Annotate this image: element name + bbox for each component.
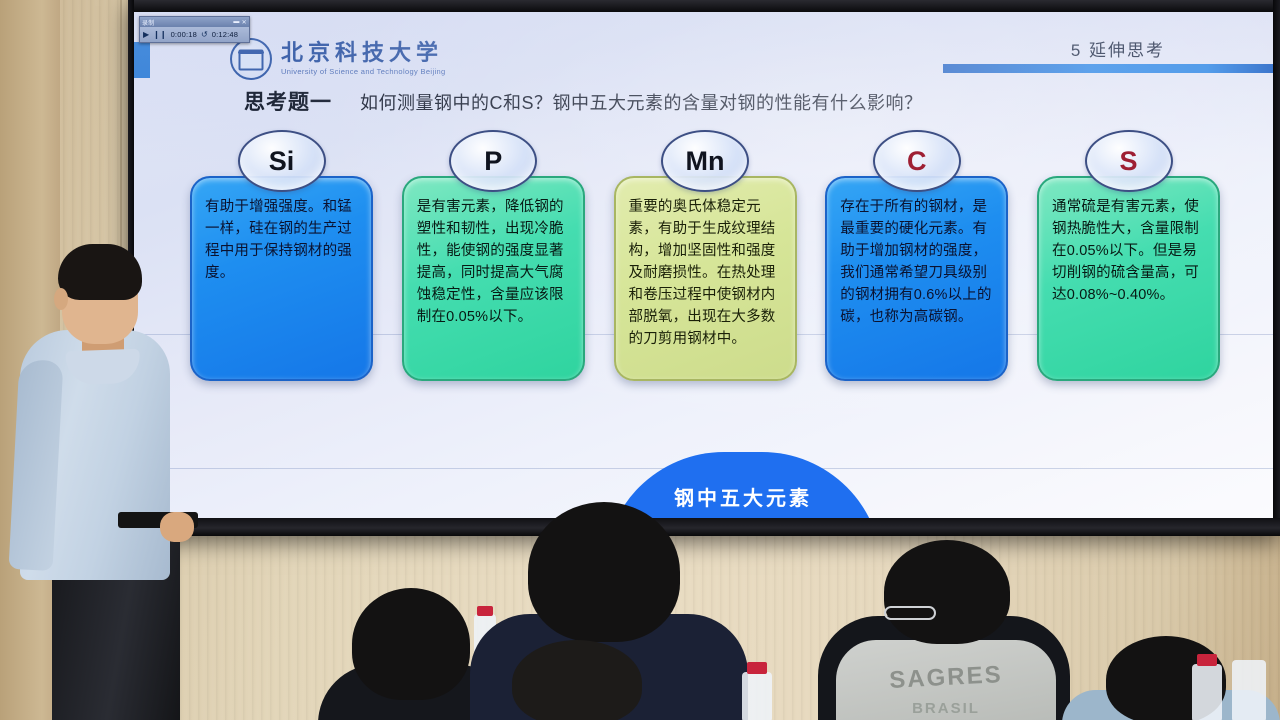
element-symbol-mn: Mn — [661, 130, 749, 192]
university-seal-icon — [230, 38, 272, 80]
elapsed-time: 0:00:18 — [171, 30, 197, 39]
section-accent-bar — [943, 64, 1273, 73]
screen-recorder-toolbar[interactable]: 录制 ▬ ✕ ▶ ❙❙ 0:00:18 ↺ 0:12:48 — [139, 16, 250, 43]
audience-member-head — [884, 540, 1010, 644]
element-column-s: S 通常硫是有害元素，使钢热脆性大，含量限制在0.05%以下。但是易切削钢的硫含… — [1037, 130, 1220, 381]
presentation-screen: 北京科技大学 University of Science and Technol… — [128, 0, 1280, 536]
bottom-banner: 钢中五大元素 — [604, 452, 882, 518]
lecture-room-scene: 北京科技大学 University of Science and Technol… — [0, 0, 1280, 720]
water-bottle-cap — [747, 662, 767, 674]
play-icon[interactable]: ▶ — [143, 31, 149, 39]
element-card-p: 是有害元素，降低钢的塑性和韧性，出现冷脆性，能使钢的强度显著提高，同时提高大气腐… — [402, 176, 585, 381]
slide-left-accent-tab — [134, 42, 150, 78]
presenter-hand — [160, 512, 194, 542]
element-symbol-p: P — [449, 130, 537, 192]
glasses-icon — [884, 606, 936, 620]
audience-member-head — [528, 502, 680, 642]
university-logo: 北京科技大学 University of Science and Technol… — [230, 38, 446, 80]
university-name-en: University of Science and Technology Bei… — [281, 67, 446, 76]
undo-icon[interactable]: ↺ — [201, 31, 208, 39]
slide-content: 北京科技大学 University of Science and Technol… — [134, 12, 1273, 518]
element-symbol-s: S — [1085, 130, 1173, 192]
recorder-controls[interactable]: ▶ ❙❙ 0:00:18 ↺ 0:12:48 — [140, 27, 249, 42]
element-card-si: 有助于增强强度。和锰一样，硅在钢的生产过程中用于保持钢材的强度。 — [190, 176, 373, 381]
screen-bezel-right — [1273, 0, 1280, 536]
water-bottle — [1232, 660, 1266, 720]
minimize-icon[interactable]: ▬ — [233, 19, 239, 25]
hoodie-text-secondary: BRASIL — [856, 700, 1036, 717]
element-card-mn: 重要的奥氏体稳定元素，有助于生成纹理结构，增加坚固性和强度及耐磨损性。在热处理和… — [614, 176, 797, 381]
element-symbol-c: C — [873, 130, 961, 192]
audience-member-head — [352, 588, 470, 700]
university-name-cn: 北京科技大学 — [281, 42, 446, 65]
audience-member-head — [512, 640, 642, 720]
water-bottle-cap — [1197, 654, 1217, 666]
water-bottle-cap — [477, 606, 493, 616]
section-label: 5 延伸思考 — [1071, 36, 1165, 61]
recorder-title-bar[interactable]: 录制 ▬ ✕ — [140, 17, 249, 27]
element-column-si: Si 有助于增强强度。和锰一样，硅在钢的生产过程中用于保持钢材的强度。 — [190, 130, 373, 381]
recorder-window-title: 录制 — [142, 18, 155, 27]
slide-title-row: 思考题一 如何测量钢中的C和S？钢中五大元素的含量对钢的性能有什么影响？ — [244, 86, 923, 116]
element-column-mn: Mn 重要的奥氏体稳定元素，有助于生成纹理结构，增加坚固性和强度及耐磨损性。在热… — [614, 130, 797, 381]
pause-icon[interactable]: ❙❙ — [153, 31, 166, 39]
screen-bezel-top — [128, 0, 1280, 12]
element-column-c: C 存在于所有的钢材，是最重要的硬化元素。有助于增加钢材的强度，我们通常希望刀具… — [825, 130, 1008, 381]
element-card-c: 存在于所有的钢材，是最重要的硬化元素。有助于增加钢材的强度，我们通常希望刀具级别… — [825, 176, 1008, 381]
element-columns: Si 有助于增强强度。和锰一样，硅在钢的生产过程中用于保持钢材的强度。 P 是有… — [190, 130, 1220, 410]
water-bottle — [1192, 664, 1222, 720]
question-text: 如何测量钢中的C和S？钢中五大元素的含量对钢的性能有什么影响？ — [360, 89, 923, 115]
element-card-s: 通常硫是有害元素，使钢热脆性大，含量限制在0.05%以下。但是易切削钢的硫含量高… — [1037, 176, 1220, 381]
presenter-ear — [54, 288, 68, 310]
element-column-p: P 是有害元素，降低钢的塑性和韧性，出现冷脆性，能使钢的强度显著提高，同时提高大… — [402, 130, 585, 381]
element-symbol-si: Si — [238, 130, 326, 192]
water-bottle — [742, 672, 772, 720]
presenter-hair — [58, 244, 142, 300]
bottom-banner-label: 钢中五大元素 — [604, 482, 882, 511]
question-label: 思考题一 — [244, 86, 332, 116]
total-time: 0:12:48 — [212, 30, 238, 39]
close-icon[interactable]: ✕ — [242, 19, 247, 26]
screen-bezel-bottom — [128, 518, 1280, 536]
